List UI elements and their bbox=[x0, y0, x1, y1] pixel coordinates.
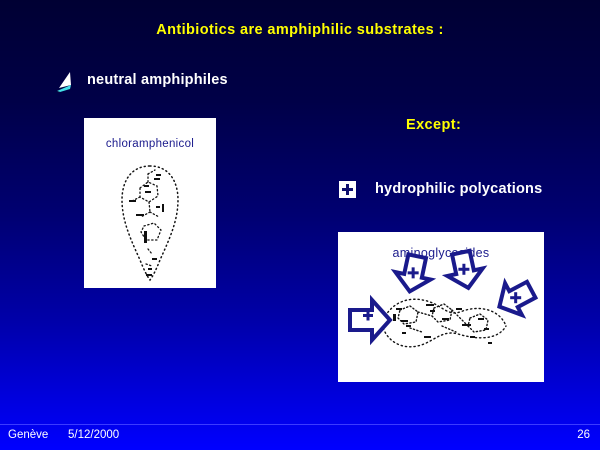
footer-divider bbox=[0, 424, 600, 425]
footer-page-number: 26 bbox=[577, 429, 590, 441]
bullet-label-neutral-amphiphiles: neutral amphiphiles bbox=[87, 72, 228, 88]
figure-chloramphenicol: chloramphenicol bbox=[84, 118, 216, 288]
page-title: Antibiotics are amphiphilic substrates : bbox=[0, 22, 600, 38]
plus-arrow-upper-right bbox=[443, 249, 486, 292]
figure-aminoglycosides: aminoglycosides bbox=[338, 232, 544, 382]
plus-arrow-upper-left bbox=[392, 252, 435, 295]
sail-triangle-bullet-icon bbox=[52, 68, 80, 96]
bullet-item-hydrophilic-polycations: hydrophilic polycations bbox=[339, 180, 589, 206]
plus-arrow-right bbox=[491, 274, 540, 323]
bullet-item-neutral-amphiphiles: neutral amphiphiles bbox=[52, 68, 382, 98]
bullet-label-hydrophilic-polycations: hydrophilic polycations bbox=[375, 181, 542, 197]
aminoglycosides-molecule-art bbox=[338, 232, 544, 382]
slide-canvas: Antibiotics are amphiphilic substrates :… bbox=[0, 0, 600, 450]
plus-square-bullet-icon bbox=[339, 181, 356, 198]
footer-date: 5/12/2000 bbox=[68, 429, 119, 441]
except-label: Except: bbox=[406, 117, 461, 133]
footer-place: Genève bbox=[8, 429, 48, 441]
chloramphenicol-molecule-art bbox=[84, 118, 216, 288]
plus-arrow-left bbox=[350, 300, 390, 340]
